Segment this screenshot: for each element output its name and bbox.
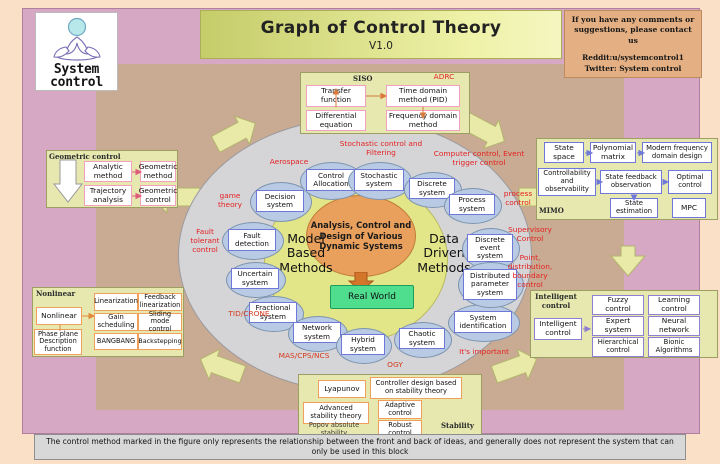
annotation-its-important: It's important: [452, 348, 516, 357]
annotation-point-distribution-boundary: Point, distribution, boundary control: [502, 254, 558, 290]
title-bar: Graph of Control Theory V1.0: [200, 10, 562, 59]
bubble-label-chaotic-system[interactable]: Chaotic system: [399, 328, 445, 349]
nonlinear-connectors: [32, 287, 184, 357]
page-title: Graph of Control Theory: [261, 18, 502, 38]
contact-box: If you have any comments or suggestions,…: [564, 10, 702, 78]
annotation-supervisory-control: Supervisory Control: [500, 226, 560, 244]
bubble-label-stochastic-system[interactable]: Stochastic system: [354, 169, 404, 191]
annotation-stochastic-control-filtering: Stochastic control and Filtering: [336, 140, 426, 158]
geometric-connectors: [46, 150, 178, 208]
contact-reddit: Reddit:u/systemcontrol1: [570, 53, 696, 63]
annotation-game-theory: game theory: [207, 192, 253, 210]
annotation-aerospace: Aerospace: [256, 158, 322, 167]
bubble-label-process-system[interactable]: Process system: [449, 194, 495, 215]
bubble-label-fault-detection[interactable]: Fault detection: [228, 229, 276, 251]
logo-text-line2: control: [50, 76, 103, 89]
bubble-label-decision-system[interactable]: Decision system: [256, 190, 304, 212]
bubble-label-system-identification[interactable]: System identification: [454, 311, 512, 333]
node-controller-design-stability[interactable]: Controller design based on stability the…: [370, 377, 462, 399]
lotus-flower-icon: [49, 17, 105, 63]
node-adaptive-control[interactable]: Adaptive control: [378, 400, 422, 419]
annotation-ogy: OGY: [380, 361, 410, 370]
model-based-methods-label: Model Based Methods: [278, 232, 334, 275]
bubble-label-uncertain-system[interactable]: Uncertain system: [231, 268, 279, 289]
siso-connectors: [300, 72, 470, 134]
contact-invite-text: If you have any comments or suggestions,…: [570, 15, 696, 46]
annotation-fault-tolerant-control: Fault tolerant control: [182, 228, 228, 255]
annotation-computer-event-trigger: Computer control, Event trigger control: [432, 150, 526, 168]
mimo-connectors: [536, 138, 718, 220]
footer-note: The control method marked in the figure …: [34, 434, 686, 460]
intelligent-connectors: [530, 290, 718, 358]
contact-twitter: Twitter: System control: [570, 64, 696, 74]
annotation-process-control: process control: [496, 190, 540, 208]
bubble-label-hybrid-system[interactable]: Hybrid system: [341, 334, 385, 355]
bubble-label-network-system[interactable]: Network system: [293, 322, 341, 343]
real-world-box: Real World: [330, 285, 414, 309]
logo-text-line1: System: [50, 63, 103, 76]
node-lyapunov[interactable]: Lyapunov: [318, 380, 366, 398]
stability-group-label: Stability: [441, 421, 474, 430]
logo-box: System control: [35, 12, 118, 91]
control-theory-graph-canvas: System control Graph of Control Theory V…: [0, 0, 720, 464]
version-label: V1.0: [369, 40, 393, 52]
annotation-mas-cps-ncs: MAS/CPS/NCS: [268, 352, 340, 361]
annotation-tid-crone: TID/CRONE: [218, 310, 280, 319]
